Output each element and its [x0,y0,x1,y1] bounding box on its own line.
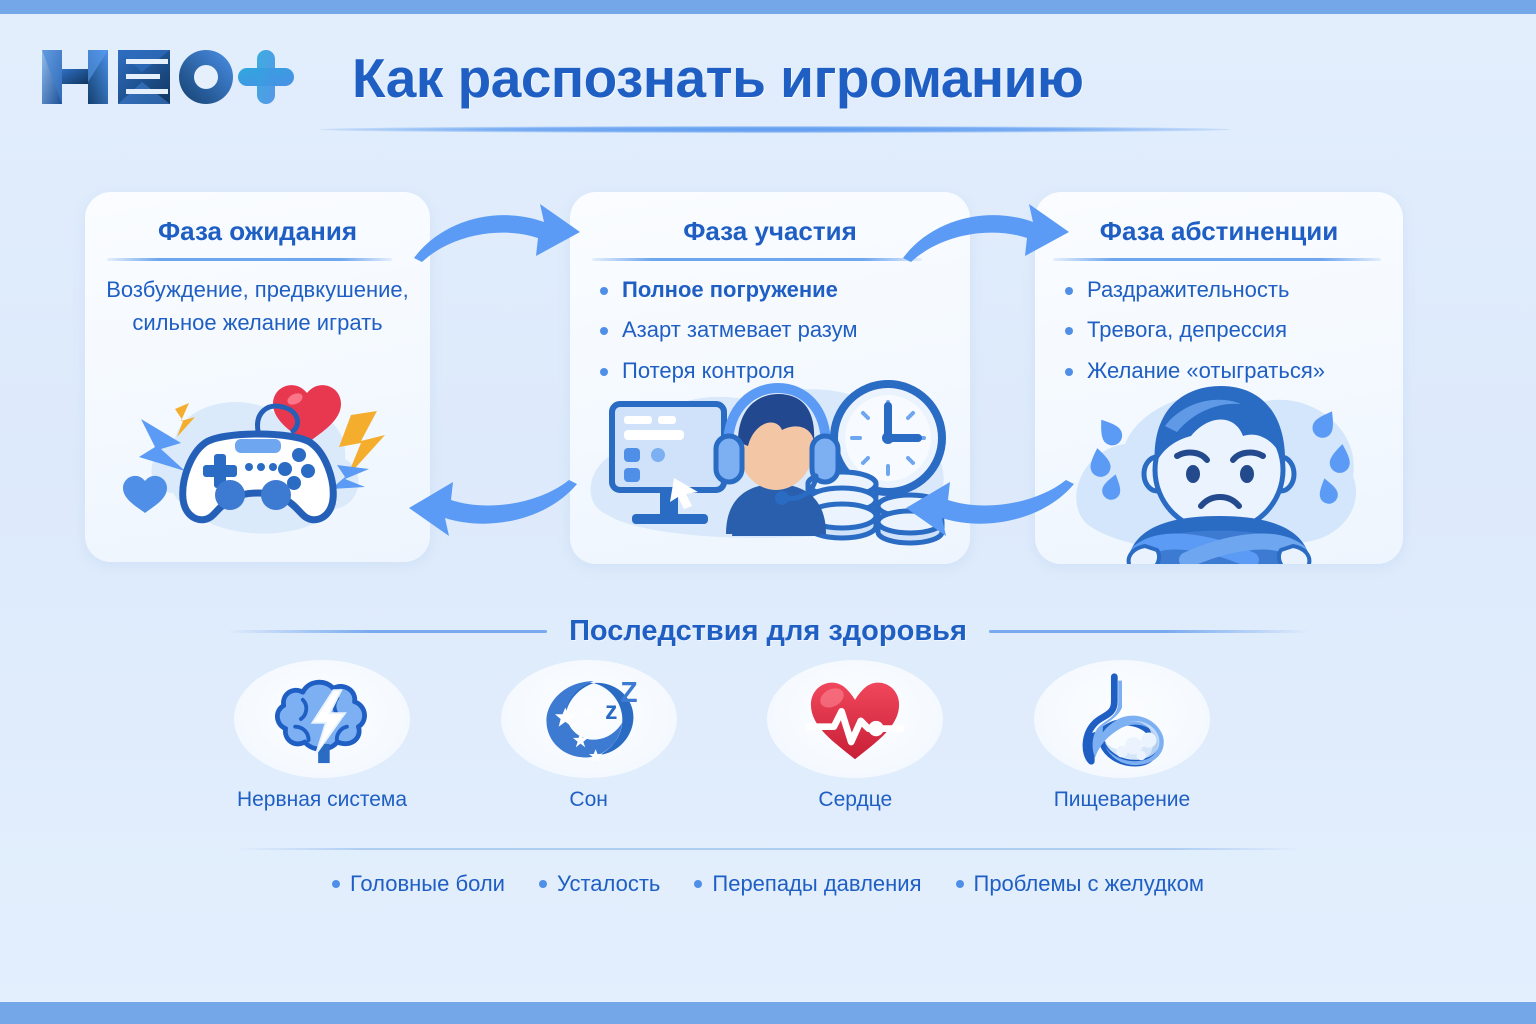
consequences-section-header: Последствия для здоровья [0,612,1536,650]
bullet-dot-icon [694,880,702,888]
card-divider [1053,258,1381,261]
symptom-tag: Перепады давления [694,871,921,897]
symptom-label: Головные боли [350,871,505,897]
consequence-item-digestion[interactable]: Пищеварение [1022,660,1222,845]
symptom-tag: Усталость [539,871,660,897]
symptom-label: Проблемы с желудком [974,871,1205,897]
gamepad-heart-illustration [103,373,413,562]
page-title: Как распознать игроманию [352,42,1152,114]
arrow-right-phase2-to-phase3 [897,196,1072,268]
arrow-left-phase3-to-phase2 [900,470,1080,542]
sad-person-illustration [1065,374,1375,564]
symptom-tag-row: Головные боли Усталость Перепады давлени… [236,862,1300,906]
list-item: Азарт затмевает разум [596,316,958,343]
consequence-label: Сердце [818,788,892,812]
phase-card-title: Фаза ожидания [85,216,430,247]
top-accent-bar [0,0,1536,14]
phase-card-title: Фаза абстиненции [1035,216,1403,247]
phase-card-withdrawal[interactable]: Фаза абстиненции Раздражительность Трево… [1035,192,1403,564]
phase-card-anticipation[interactable]: Фаза ожидания Возбуждение, предвкушение,… [85,192,430,562]
consequence-label: Сон [569,788,607,812]
heart-pulse-icon [805,673,905,765]
section-title: Последствия для здоровья [569,615,967,648]
icon-blob: z Z [501,660,677,778]
consequence-icon-row: Нервная система z Z Сон [222,660,1222,845]
card-divider [592,258,922,261]
section-rule-right [989,630,1309,633]
icon-blob [767,660,943,778]
bullet-dot-icon [539,880,547,888]
infographic-canvas: Как распознать игроманию Фаза ожидания В… [0,0,1536,1024]
bullet-dot-icon [332,880,340,888]
bottom-divider [236,848,1300,850]
phase-card-description: Возбуждение, предвкушение, сильное желан… [95,274,420,339]
symptom-label: Перепады давления [712,871,921,897]
svg-text:z: z [605,698,617,725]
list-item: Раздражительность [1061,276,1391,303]
symptom-tag: Проблемы с желудком [956,871,1205,897]
symptom-tag: Головные боли [332,871,505,897]
consequence-item-heart[interactable]: Сердце [755,660,955,845]
list-item: Тревога, депрессия [1061,316,1391,343]
consequence-item-nervous-system[interactable]: Нервная система [222,660,422,845]
icon-blob [234,660,410,778]
symptom-label: Усталость [557,871,660,897]
arrow-left-phase2-to-phase1 [403,470,583,542]
bottom-accent-bar [0,1002,1536,1024]
stomach-icon [1074,669,1170,769]
arrow-right-phase1-to-phase2 [408,196,583,268]
card-divider [107,258,392,261]
brand-logo [38,42,298,112]
consequence-label: Пищеварение [1054,788,1191,812]
brain-lightning-icon [274,673,370,765]
section-rule-left [227,630,547,633]
consequence-label: Нервная система [237,788,407,812]
icon-blob [1034,660,1210,778]
consequence-item-sleep[interactable]: z Z Сон [489,660,689,845]
bullet-dot-icon [956,880,964,888]
svg-text:Z: Z [620,677,637,709]
title-underline [320,126,1230,133]
list-item: Полное погружение [596,276,958,303]
moon-zzz-icon: z Z [537,673,641,765]
